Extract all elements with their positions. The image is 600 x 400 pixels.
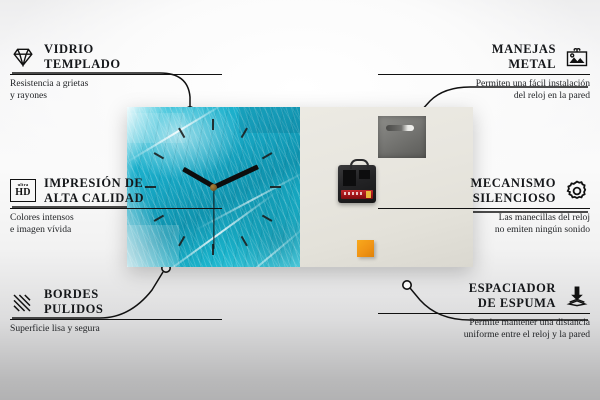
diamond-icon <box>10 45 36 69</box>
divider <box>10 319 222 320</box>
feature-description: Superficie lisa y segura <box>10 323 222 335</box>
divider <box>10 208 222 209</box>
feature-description: Permiten una fácil instalación del reloj… <box>378 78 590 101</box>
feature-title: BORDES PULIDOS <box>44 287 103 316</box>
feature-title-line2: TEMPLADO <box>44 57 121 71</box>
feature-description: Resistencia a grietas y rayones <box>10 78 222 101</box>
description-line2: y rayones <box>10 90 47 101</box>
feature-title-line1: ESPACIADOR <box>469 281 556 295</box>
feature-title-line1: MECANISMO <box>470 176 556 190</box>
ultra-hd-icon: ultra HD <box>10 179 36 203</box>
feature-vidrio-templado: VIDRIO TEMPLADO Resistencia a grietas y … <box>10 42 222 101</box>
description-line1: Permiten una fácil instalación <box>476 78 590 89</box>
feature-manejas-metal: MANEJAS METAL Permiten una fácil instala… <box>378 42 590 101</box>
feature-title-line1: IMPRESIÓN DE <box>44 176 143 190</box>
feature-title-line2: METAL <box>508 57 556 71</box>
infographic-stage: VIDRIO TEMPLADO Resistencia a grietas y … <box>0 0 600 400</box>
feature-header: ESPACIADOR DE ESPUMA <box>378 281 590 310</box>
feature-bordes-pulidos: BORDES PULIDOS Superficie lisa y segura <box>10 287 222 335</box>
feature-title-line1: VIDRIO <box>44 42 94 56</box>
divider <box>378 313 590 314</box>
feature-header: MANEJAS METAL <box>378 42 590 71</box>
down-arrow-stack-icon <box>564 284 590 308</box>
divider <box>378 74 590 75</box>
description-line1: Permite mantener una distancia <box>469 317 590 328</box>
description-line1: Colores intensos <box>10 212 74 223</box>
feature-espaciador-espuma: ESPACIADOR DE ESPUMA Permite mantener un… <box>378 281 590 340</box>
feature-header: MECANISMO SILENCIOSO <box>378 176 590 205</box>
foam-spacer <box>357 240 374 257</box>
hanger-slot <box>386 125 414 131</box>
mechanism-hook <box>350 159 369 169</box>
feature-mecanismo-silencioso: MECANISMO SILENCIOSO Las manecillas del … <box>378 176 590 235</box>
feature-title: MECANISMO SILENCIOSO <box>470 176 556 205</box>
description-line1: Las manecillas del reloj <box>499 212 590 223</box>
description-line2: no emiten ningún sonido <box>495 224 590 235</box>
feature-title-line1: MANEJAS <box>492 42 556 56</box>
feature-title-line1: BORDES <box>44 287 99 301</box>
feature-title: IMPRESIÓN DE ALTA CALIDAD <box>44 176 144 205</box>
feature-description: Permite mantener una distancia uniforme … <box>378 317 590 340</box>
hd-label: HD <box>15 188 31 198</box>
battery-terminal <box>366 191 371 198</box>
description-line1: Superficie lisa y segura <box>10 323 100 334</box>
feature-description: Las manecillas del reloj no emiten ningú… <box>378 212 590 235</box>
feature-title-line2: PULIDOS <box>44 302 103 316</box>
feature-title: MANEJAS METAL <box>492 42 556 71</box>
description-line2: e imagen vívida <box>10 224 71 235</box>
metal-hanger-plate <box>378 116 426 158</box>
description-line1: Resistencia a grietas <box>10 78 88 89</box>
feature-impresion-alta-calidad: ultra HD IMPRESIÓN DE ALTA CALIDAD Color… <box>10 176 222 235</box>
description-line2: uniforme entre el reloj y la pared <box>464 329 590 340</box>
feature-title-line2: SILENCIOSO <box>473 191 556 205</box>
divider <box>10 74 222 75</box>
picture-frame-hanger-icon <box>564 45 590 69</box>
divider <box>378 208 590 209</box>
polished-edges-icon <box>10 290 36 314</box>
gear-icon <box>564 179 590 203</box>
feature-description: Colores intensos e imagen vívida <box>10 212 222 235</box>
description-line2: del reloj en la pared <box>514 90 590 101</box>
feature-title: ESPACIADOR DE ESPUMA <box>469 281 556 310</box>
feature-header: BORDES PULIDOS <box>10 287 222 316</box>
battery <box>341 190 373 199</box>
feature-header: VIDRIO TEMPLADO <box>10 42 222 71</box>
feature-title: VIDRIO TEMPLADO <box>44 42 121 71</box>
battery-label <box>344 192 364 195</box>
quartz-mechanism <box>338 165 376 203</box>
feature-header: ultra HD IMPRESIÓN DE ALTA CALIDAD <box>10 176 222 205</box>
feature-title-line2: DE ESPUMA <box>478 296 556 310</box>
feature-title-line2: ALTA CALIDAD <box>44 191 144 205</box>
